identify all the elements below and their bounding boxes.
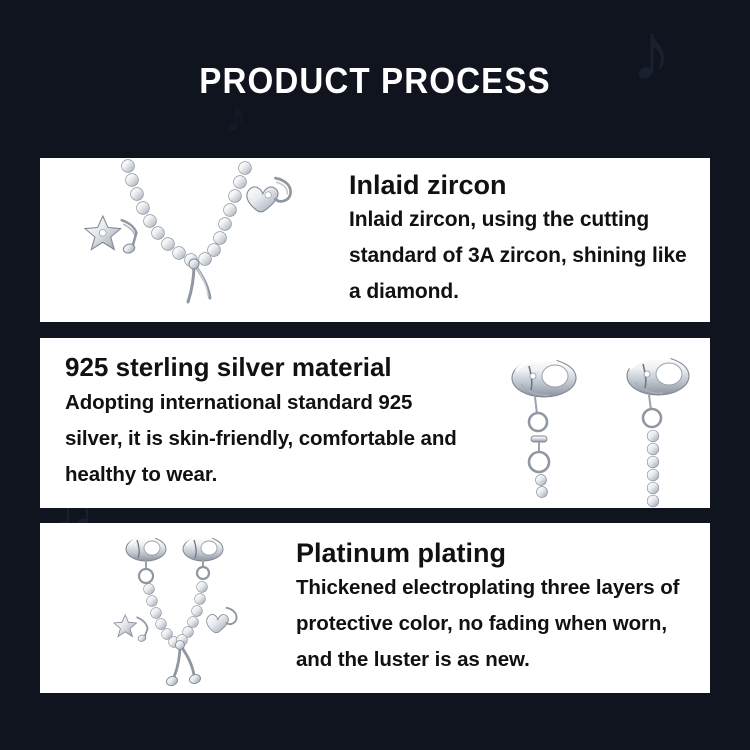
card-description: Thickened electroplating three layers of…: [296, 570, 700, 678]
card-text-block: 925 sterling silver material Adopting in…: [40, 338, 485, 508]
card-description: Adopting international standard 925 silv…: [65, 385, 475, 493]
product-photo-two-silver-clip-charms-with-bead-chains: [485, 338, 710, 508]
card-description: Inlaid zircon, using the cutting standar…: [349, 202, 700, 310]
feature-card-925-sterling-silver: 925 sterling silver material Adopting in…: [40, 338, 710, 508]
card-heading: Platinum plating: [296, 538, 700, 569]
feature-card-inlaid-zircon: Inlaid zircon Inlaid zircon, using the c…: [40, 158, 710, 322]
card-text-block: Platinum plating Thickened electroplatin…: [270, 523, 710, 693]
card-heading: Inlaid zircon: [349, 170, 700, 201]
page-title: PRODUCT PROCESS: [30, 60, 720, 102]
card-heading: 925 sterling silver material: [65, 353, 475, 383]
product-photo-full-safety-chain-with-note-charms: [40, 523, 270, 693]
product-photo-beaded-chain-with-music-note-charms: [40, 158, 325, 322]
feature-card-platinum-plating: Platinum plating Thickened electroplatin…: [40, 523, 710, 693]
card-text-block: Inlaid zircon Inlaid zircon, using the c…: [325, 158, 710, 322]
